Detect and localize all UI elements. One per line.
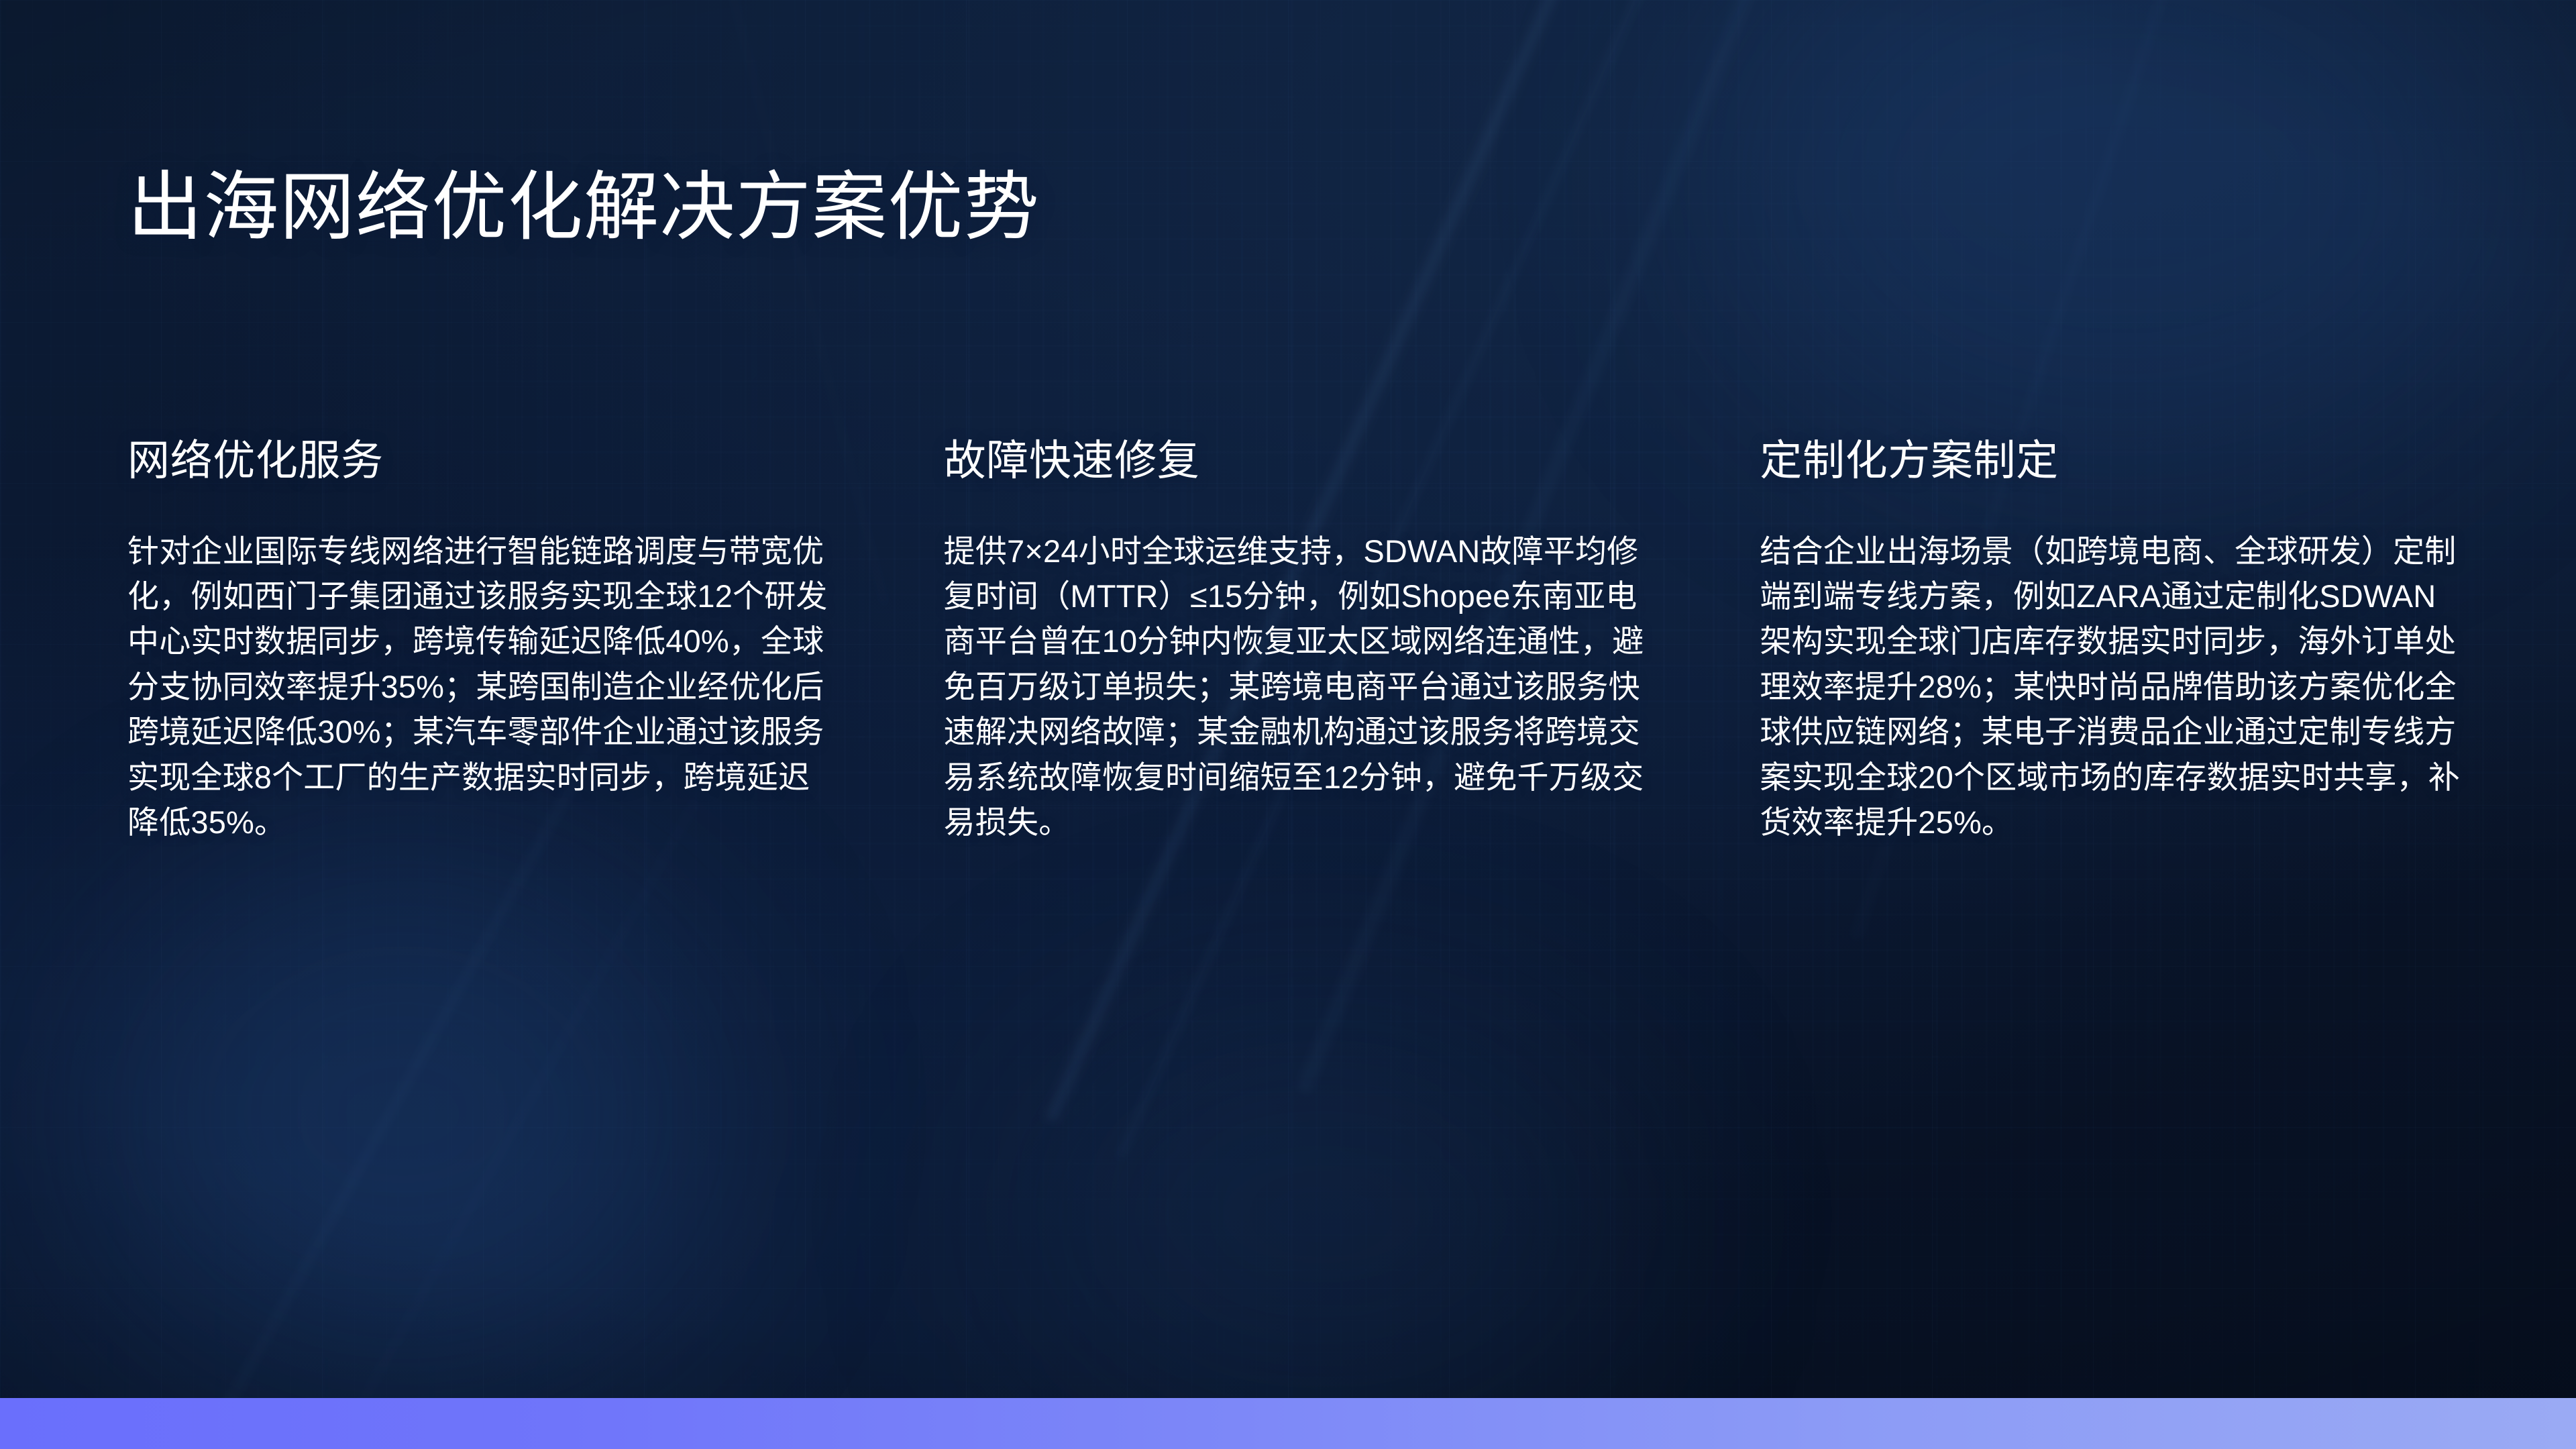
- slide-content: 出海网络优化解决方案优势 网络优化服务 针对企业国际专线网络进行智能链路调度与带…: [0, 0, 2576, 1449]
- presentation-slide: 出海网络优化解决方案优势 网络优化服务 针对企业国际专线网络进行智能链路调度与带…: [0, 0, 2576, 1449]
- footer-accent-bar: [0, 1398, 2576, 1449]
- column-body-text: 结合企业出海场景（如跨境电商、全球研发）定制端到端专线方案，例如ZARA通过定制…: [1760, 529, 2462, 845]
- feature-columns: 网络优化服务 针对企业国际专线网络进行智能链路调度与带宽优化，例如西门子集团通过…: [127, 436, 2462, 845]
- column-body-text: 针对企业国际专线网络进行智能链路调度与带宽优化，例如西门子集团通过该服务实现全球…: [127, 529, 830, 845]
- feature-column-network-optimization: 网络优化服务 针对企业国际专线网络进行智能链路调度与带宽优化，例如西门子集团通过…: [127, 436, 830, 845]
- page-title: 出海网络优化解决方案优势: [127, 163, 1040, 252]
- column-title: 故障快速修复: [944, 436, 1646, 487]
- feature-column-fault-repair: 故障快速修复 提供7×24小时全球运维支持，SDWAN故障平均修复时间（MTTR…: [944, 436, 1646, 845]
- column-body-text: 提供7×24小时全球运维支持，SDWAN故障平均修复时间（MTTR）≤15分钟，…: [944, 529, 1646, 845]
- column-title: 定制化方案制定: [1760, 436, 2462, 487]
- feature-column-custom-solution: 定制化方案制定 结合企业出海场景（如跨境电商、全球研发）定制端到端专线方案，例如…: [1760, 436, 2462, 845]
- column-title: 网络优化服务: [127, 436, 830, 487]
